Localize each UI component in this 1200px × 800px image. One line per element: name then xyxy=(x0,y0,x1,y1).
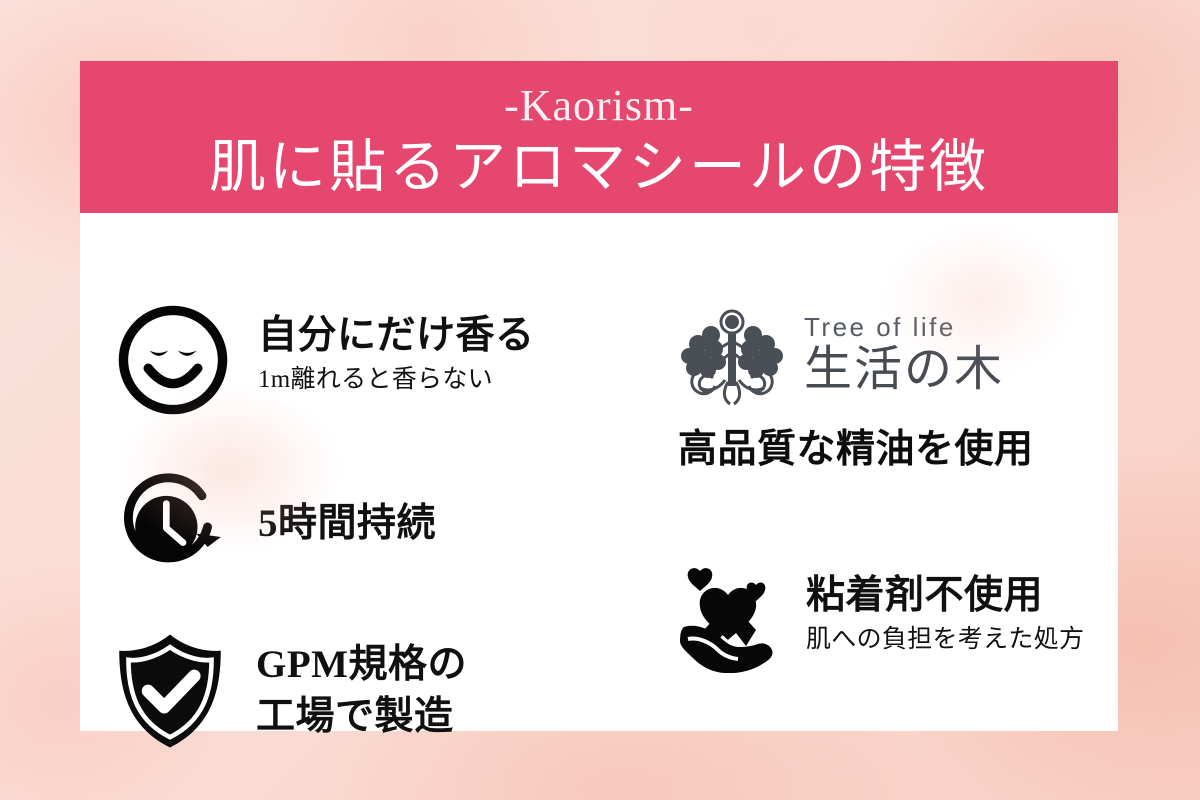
page-headline: 肌に貼るアロマシールの特徴 xyxy=(80,131,1118,203)
brand-title: -Kaorism- xyxy=(80,61,1118,131)
feature-factory-title-line2: 工場で製造 xyxy=(256,691,467,743)
tree-of-life-icon xyxy=(678,308,786,413)
features-area: 自分にだけ香る 1m離れると香らない xyxy=(80,213,1118,731)
feature-adhesive-text: 粘着剤不使用 肌への負担を考えた処方 xyxy=(782,561,1084,655)
content-card: -Kaorism- 肌に貼るアロマシールの特徴 xyxy=(80,61,1118,731)
feature-adhesive-subtitle: 肌への負担を考えた処方 xyxy=(806,625,1084,655)
feature-duration: 5時間持続 xyxy=(114,471,436,588)
hand-hearts-icon xyxy=(678,561,782,678)
feature-factory-title-line1: GPM規格の xyxy=(256,639,467,691)
poster-background: -Kaorism- 肌に貼るアロマシールの特徴 xyxy=(0,0,1200,800)
brand-name-japanese: 生活の木 xyxy=(804,342,1004,398)
brand-name-english: Tree of life xyxy=(804,312,1004,342)
feature-adhesive-title: 粘着剤不使用 xyxy=(806,573,1084,619)
feature-scent-subtitle: 1m離れると香らない xyxy=(258,365,535,395)
brand-text: Tree of life 生活の木 xyxy=(786,308,1004,398)
features-column-left: 自分にだけ香る 1m離れると香らない xyxy=(114,213,614,731)
smiley-face-icon xyxy=(114,301,232,424)
header-band: -Kaorism- 肌に貼るアロマシールの特徴 xyxy=(80,61,1118,213)
shield-check-icon xyxy=(114,631,226,756)
feature-adhesive-free: 粘着剤不使用 肌への負担を考えた処方 xyxy=(678,561,1084,678)
feature-scent-text: 自分にだけ香る 1m離れると香らない xyxy=(232,301,535,395)
feature-factory: GPM規格の 工場で製造 xyxy=(114,631,467,756)
features-column-right: Tree of life 生活の木 高品質な精油を使用 xyxy=(600,213,1118,731)
feature-factory-text: GPM規格の 工場で製造 xyxy=(226,631,467,743)
clock-arrow-icon xyxy=(114,471,232,588)
brand-row: Tree of life 生活の木 xyxy=(678,308,1034,413)
feature-duration-title: 5時間持続 xyxy=(258,501,436,547)
feature-scent-title: 自分にだけ香る xyxy=(258,313,535,359)
feature-duration-text: 5時間持続 xyxy=(232,471,436,547)
feature-essential-oil: Tree of life 生活の木 高品質な精油を使用 xyxy=(678,308,1034,473)
feature-oil-claim: 高品質な精油を使用 xyxy=(678,427,1034,473)
feature-scent: 自分にだけ香る 1m離れると香らない xyxy=(114,301,535,424)
